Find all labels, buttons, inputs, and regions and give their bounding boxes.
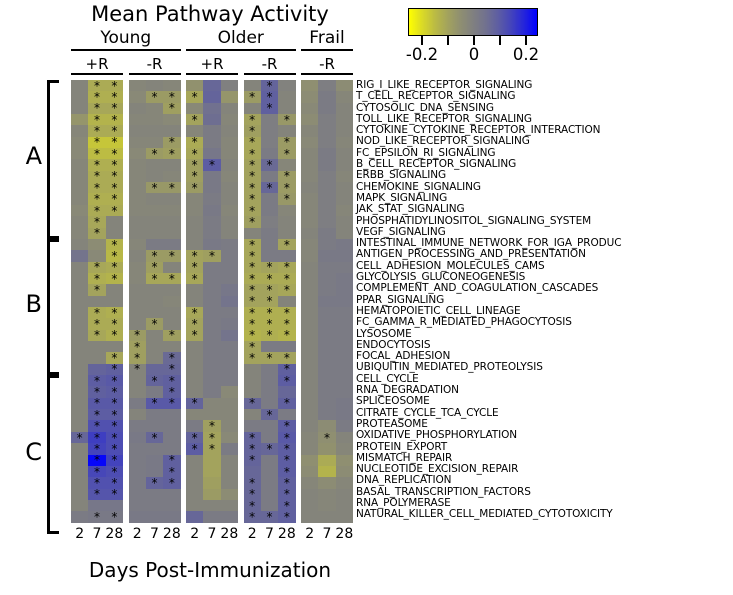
heatmap-cell[interactable] (261, 341, 278, 352)
heatmap-cell[interactable] (71, 307, 88, 318)
heatmap-cell[interactable]: * (186, 250, 203, 261)
heatmap-cell[interactable]: * (244, 250, 261, 261)
heatmap-cell[interactable] (129, 216, 146, 227)
heatmap-cell[interactable]: * (129, 341, 146, 352)
heatmap-cell[interactable] (261, 420, 278, 431)
heatmap-cell[interactable]: * (186, 148, 203, 159)
heatmap-cell[interactable]: * (88, 466, 105, 477)
heatmap-cell[interactable] (318, 398, 335, 409)
heatmap-cell[interactable] (336, 284, 353, 295)
heatmap-cell[interactable] (186, 205, 203, 216)
heatmap-cell[interactable] (301, 375, 318, 386)
heatmap-cell[interactable]: * (88, 489, 105, 500)
heatmap-cell[interactable] (318, 91, 335, 102)
heatmap-cell[interactable] (129, 193, 146, 204)
heatmap-cell[interactable] (336, 375, 353, 386)
heatmap-cell[interactable] (318, 103, 335, 114)
heatmap-cell[interactable]: * (261, 409, 278, 420)
heatmap-cell[interactable] (336, 137, 353, 148)
heatmap-cell[interactable] (106, 341, 123, 352)
heatmap-cell[interactable]: * (278, 432, 295, 443)
heatmap-cell[interactable] (221, 284, 238, 295)
heatmap-cell[interactable]: * (244, 193, 261, 204)
heatmap-cell[interactable]: * (278, 193, 295, 204)
heatmap-cell[interactable] (336, 159, 353, 170)
heatmap-cell[interactable]: * (186, 114, 203, 125)
heatmap-cell[interactable] (71, 80, 88, 91)
heatmap-cell[interactable] (146, 239, 163, 250)
heatmap-cell[interactable] (318, 466, 335, 477)
heatmap-cell[interactable]: * (244, 489, 261, 500)
heatmap-cell[interactable]: * (261, 262, 278, 273)
heatmap-cell[interactable] (336, 500, 353, 511)
heatmap-cell[interactable] (88, 296, 105, 307)
heatmap-cell[interactable] (318, 477, 335, 488)
heatmap-cell[interactable] (244, 80, 261, 91)
heatmap-cell[interactable] (203, 409, 220, 420)
heatmap-cell[interactable] (318, 443, 335, 454)
heatmap-cell[interactable] (336, 432, 353, 443)
heatmap-cell[interactable] (301, 80, 318, 91)
heatmap-cell[interactable] (301, 171, 318, 182)
heatmap-cell[interactable] (146, 137, 163, 148)
heatmap-cell[interactable]: * (146, 477, 163, 488)
heatmap-cell[interactable] (301, 432, 318, 443)
heatmap-cell[interactable] (186, 125, 203, 136)
heatmap-cell[interactable] (203, 137, 220, 148)
heatmap-cell[interactable] (146, 216, 163, 227)
heatmap-cell[interactable] (318, 489, 335, 500)
heatmap-cell[interactable]: * (278, 477, 295, 488)
heatmap-cell[interactable] (318, 228, 335, 239)
heatmap-cell[interactable] (129, 432, 146, 443)
heatmap-cell[interactable]: * (261, 352, 278, 363)
heatmap-cell[interactable] (221, 330, 238, 341)
heatmap-cell[interactable]: * (163, 250, 180, 261)
heatmap-cell[interactable] (318, 364, 335, 375)
heatmap-cell[interactable]: * (88, 409, 105, 420)
heatmap-cell[interactable]: * (129, 330, 146, 341)
heatmap-cell[interactable] (129, 307, 146, 318)
heatmap-cell[interactable]: * (106, 318, 123, 329)
heatmap-cell[interactable]: * (278, 443, 295, 454)
heatmap-cell[interactable]: * (163, 103, 180, 114)
heatmap-cell[interactable]: * (163, 375, 180, 386)
heatmap-cell[interactable] (244, 228, 261, 239)
heatmap-cell[interactable] (71, 398, 88, 409)
heatmap-cell[interactable] (186, 296, 203, 307)
heatmap-cell[interactable]: * (244, 443, 261, 454)
heatmap-cell[interactable]: * (278, 455, 295, 466)
heatmap-cell[interactable] (203, 455, 220, 466)
heatmap-cell[interactable]: * (186, 443, 203, 454)
heatmap-cell[interactable] (203, 80, 220, 91)
heatmap-cell[interactable] (301, 364, 318, 375)
heatmap-cell[interactable] (163, 511, 180, 522)
heatmap-cell[interactable] (318, 239, 335, 250)
heatmap-cell[interactable] (88, 364, 105, 375)
heatmap-cell[interactable] (129, 228, 146, 239)
heatmap-cell[interactable] (203, 114, 220, 125)
heatmap-cell[interactable] (301, 500, 318, 511)
heatmap-cell[interactable]: * (244, 137, 261, 148)
heatmap-cell[interactable]: * (88, 511, 105, 522)
heatmap-cell[interactable] (71, 341, 88, 352)
heatmap-cell[interactable] (261, 500, 278, 511)
heatmap-cell[interactable] (221, 114, 238, 125)
heatmap-cell[interactable] (221, 420, 238, 431)
heatmap-cell[interactable] (163, 114, 180, 125)
heatmap-cell[interactable] (163, 420, 180, 431)
heatmap-cell[interactable] (221, 125, 238, 136)
heatmap-cell[interactable]: * (244, 205, 261, 216)
heatmap-cell[interactable] (163, 205, 180, 216)
heatmap-cell[interactable] (221, 466, 238, 477)
heatmap-cell[interactable] (71, 216, 88, 227)
heatmap-cell[interactable] (336, 91, 353, 102)
heatmap-cell[interactable] (261, 364, 278, 375)
heatmap-cell[interactable]: * (186, 182, 203, 193)
heatmap-cell[interactable] (301, 148, 318, 159)
heatmap-cell[interactable]: * (244, 318, 261, 329)
heatmap-cell[interactable] (221, 171, 238, 182)
heatmap-cell[interactable] (203, 228, 220, 239)
heatmap-cell[interactable]: * (186, 432, 203, 443)
heatmap-cell[interactable] (146, 171, 163, 182)
heatmap-cell[interactable] (336, 239, 353, 250)
heatmap-cell[interactable] (336, 489, 353, 500)
heatmap-cell[interactable]: * (261, 443, 278, 454)
heatmap-cell[interactable]: * (278, 171, 295, 182)
heatmap-cell[interactable] (129, 114, 146, 125)
heatmap-cell[interactable] (129, 455, 146, 466)
heatmap-cell[interactable] (336, 193, 353, 204)
heatmap-cell[interactable]: * (88, 262, 105, 273)
heatmap-cell[interactable]: * (106, 489, 123, 500)
heatmap-cell[interactable] (336, 409, 353, 420)
heatmap-cell[interactable]: * (146, 148, 163, 159)
heatmap-cell[interactable] (221, 148, 238, 159)
heatmap-cell[interactable]: * (88, 159, 105, 170)
heatmap-cell[interactable]: * (244, 91, 261, 102)
heatmap-cell[interactable] (221, 364, 238, 375)
heatmap-cell[interactable] (336, 205, 353, 216)
heatmap-cell[interactable] (261, 216, 278, 227)
heatmap-cell[interactable]: * (261, 80, 278, 91)
heatmap-cell[interactable] (261, 137, 278, 148)
heatmap-cell[interactable] (318, 511, 335, 522)
heatmap-cell[interactable] (336, 341, 353, 352)
heatmap-cell[interactable] (336, 273, 353, 284)
heatmap-cell[interactable] (203, 103, 220, 114)
heatmap-cell[interactable]: * (88, 193, 105, 204)
heatmap-cell[interactable]: * (244, 477, 261, 488)
heatmap-cell[interactable]: * (278, 114, 295, 125)
heatmap-cell[interactable]: * (88, 273, 105, 284)
heatmap-cell[interactable] (203, 193, 220, 204)
heatmap-cell[interactable] (203, 364, 220, 375)
heatmap-cell[interactable] (163, 307, 180, 318)
heatmap-cell[interactable]: * (186, 262, 203, 273)
heatmap-cell[interactable]: * (261, 307, 278, 318)
heatmap-cell[interactable] (71, 103, 88, 114)
heatmap-cell[interactable] (336, 250, 353, 261)
heatmap-cell[interactable] (186, 477, 203, 488)
heatmap-cell[interactable] (244, 375, 261, 386)
heatmap-cell[interactable] (71, 228, 88, 239)
heatmap-cell[interactable]: * (88, 307, 105, 318)
heatmap-cell[interactable] (336, 80, 353, 91)
heatmap-cell[interactable] (301, 409, 318, 420)
heatmap-cell[interactable]: * (106, 443, 123, 454)
heatmap-cell[interactable]: * (106, 182, 123, 193)
heatmap-cell[interactable] (301, 443, 318, 454)
heatmap-cell[interactable] (71, 250, 88, 261)
heatmap-cell[interactable] (318, 193, 335, 204)
heatmap-cell[interactable]: * (88, 443, 105, 454)
heatmap-cell[interactable] (163, 443, 180, 454)
heatmap-cell[interactable] (301, 125, 318, 136)
heatmap-cell[interactable]: * (203, 420, 220, 431)
heatmap-cell[interactable] (203, 296, 220, 307)
heatmap-cell[interactable] (336, 364, 353, 375)
heatmap-cell[interactable] (318, 318, 335, 329)
heatmap-cell[interactable]: * (278, 375, 295, 386)
heatmap-cell[interactable] (186, 284, 203, 295)
heatmap-cell[interactable] (336, 125, 353, 136)
heatmap-cell[interactable]: * (88, 477, 105, 488)
heatmap-cell[interactable] (146, 352, 163, 363)
heatmap-cell[interactable]: * (203, 443, 220, 454)
heatmap-cell[interactable] (301, 250, 318, 261)
heatmap-cell[interactable] (221, 341, 238, 352)
heatmap-cell[interactable] (261, 250, 278, 261)
heatmap-cell[interactable] (278, 250, 295, 261)
heatmap-cell[interactable] (244, 386, 261, 397)
heatmap-cell[interactable] (129, 386, 146, 397)
heatmap-cell[interactable]: * (106, 375, 123, 386)
heatmap-cell[interactable] (203, 352, 220, 363)
heatmap-cell[interactable]: * (106, 307, 123, 318)
heatmap-cell[interactable] (301, 103, 318, 114)
heatmap-cell[interactable] (146, 330, 163, 341)
heatmap-cell[interactable] (186, 216, 203, 227)
heatmap-cell[interactable] (129, 500, 146, 511)
heatmap-cell[interactable] (71, 409, 88, 420)
heatmap-cell[interactable]: * (71, 432, 88, 443)
heatmap-cell[interactable]: * (106, 511, 123, 522)
heatmap-cell[interactable] (203, 318, 220, 329)
heatmap-cell[interactable] (146, 364, 163, 375)
heatmap-cell[interactable]: * (203, 432, 220, 443)
heatmap-cell[interactable] (318, 330, 335, 341)
heatmap-cell[interactable] (163, 341, 180, 352)
heatmap-cell[interactable] (203, 273, 220, 284)
heatmap-cell[interactable] (318, 159, 335, 170)
heatmap-cell[interactable] (221, 250, 238, 261)
heatmap-cell[interactable]: * (146, 375, 163, 386)
heatmap-cell[interactable] (278, 409, 295, 420)
heatmap-cell[interactable]: * (186, 159, 203, 170)
heatmap-cell[interactable]: * (88, 125, 105, 136)
heatmap-cell[interactable] (278, 159, 295, 170)
heatmap-cell[interactable]: * (106, 364, 123, 375)
heatmap-cell[interactable] (336, 148, 353, 159)
heatmap-cell[interactable] (146, 103, 163, 114)
heatmap-cell[interactable] (186, 193, 203, 204)
heatmap-cell[interactable] (261, 148, 278, 159)
heatmap-cell[interactable]: * (244, 500, 261, 511)
heatmap-cell[interactable] (129, 477, 146, 488)
heatmap-cell[interactable]: * (146, 182, 163, 193)
heatmap-cell[interactable] (129, 182, 146, 193)
heatmap-cell[interactable]: * (278, 398, 295, 409)
heatmap-cell[interactable]: * (163, 91, 180, 102)
heatmap-cell[interactable] (106, 228, 123, 239)
heatmap-cell[interactable] (221, 477, 238, 488)
heatmap-cell[interactable] (261, 466, 278, 477)
heatmap-cell[interactable]: * (261, 318, 278, 329)
heatmap-cell[interactable] (186, 239, 203, 250)
heatmap-cell[interactable] (301, 205, 318, 216)
heatmap-cell[interactable] (203, 489, 220, 500)
heatmap-cell[interactable] (129, 489, 146, 500)
heatmap-cell[interactable] (71, 262, 88, 273)
heatmap-cell[interactable]: * (106, 386, 123, 397)
heatmap-cell[interactable] (318, 273, 335, 284)
heatmap-cell[interactable] (221, 205, 238, 216)
heatmap-cell[interactable]: * (278, 489, 295, 500)
heatmap-cell[interactable] (186, 103, 203, 114)
heatmap-cell[interactable]: * (278, 148, 295, 159)
heatmap-cell[interactable] (221, 511, 238, 522)
heatmap-cell[interactable] (71, 330, 88, 341)
heatmap-cell[interactable] (336, 420, 353, 431)
heatmap-cell[interactable]: * (278, 420, 295, 431)
heatmap-cell[interactable]: * (146, 250, 163, 261)
heatmap-cell[interactable] (186, 228, 203, 239)
heatmap-cell[interactable] (278, 216, 295, 227)
heatmap-cell[interactable] (146, 511, 163, 522)
heatmap-cell[interactable] (129, 171, 146, 182)
heatmap-cell[interactable] (221, 273, 238, 284)
heatmap-cell[interactable] (221, 159, 238, 170)
heatmap-cell[interactable]: * (163, 148, 180, 159)
heatmap-cell[interactable]: * (88, 91, 105, 102)
heatmap-cell[interactable] (71, 91, 88, 102)
heatmap-cell[interactable] (336, 228, 353, 239)
heatmap-cell[interactable]: * (186, 137, 203, 148)
heatmap-cell[interactable]: * (244, 262, 261, 273)
heatmap-cell[interactable] (129, 239, 146, 250)
heatmap-cell[interactable] (203, 500, 220, 511)
heatmap-cell[interactable]: * (261, 330, 278, 341)
heatmap-cell[interactable] (146, 443, 163, 454)
heatmap-cell[interactable] (301, 489, 318, 500)
heatmap-cell[interactable] (146, 205, 163, 216)
heatmap-cell[interactable] (336, 103, 353, 114)
heatmap-cell[interactable] (163, 171, 180, 182)
heatmap-cell[interactable] (146, 228, 163, 239)
heatmap-cell[interactable] (71, 420, 88, 431)
heatmap-cell[interactable] (336, 455, 353, 466)
heatmap-cell[interactable] (186, 489, 203, 500)
heatmap-cell[interactable]: * (88, 398, 105, 409)
heatmap-cell[interactable] (203, 341, 220, 352)
heatmap-cell[interactable]: * (163, 273, 180, 284)
heatmap-cell[interactable] (301, 114, 318, 125)
heatmap-cell[interactable] (146, 466, 163, 477)
heatmap-cell[interactable] (336, 171, 353, 182)
heatmap-cell[interactable] (146, 193, 163, 204)
heatmap-cell[interactable] (301, 511, 318, 522)
heatmap-cell[interactable]: * (278, 182, 295, 193)
heatmap-cell[interactable]: * (129, 364, 146, 375)
heatmap-cell[interactable] (186, 375, 203, 386)
heatmap-cell[interactable] (71, 284, 88, 295)
heatmap-cell[interactable] (106, 216, 123, 227)
heatmap-cell[interactable] (336, 398, 353, 409)
heatmap-cell[interactable] (203, 284, 220, 295)
heatmap-cell[interactable]: * (88, 103, 105, 114)
heatmap-cell[interactable]: * (261, 273, 278, 284)
heatmap-cell[interactable] (129, 466, 146, 477)
heatmap-cell[interactable] (221, 409, 238, 420)
heatmap-cell[interactable] (146, 284, 163, 295)
heatmap-cell[interactable] (318, 500, 335, 511)
heatmap-cell[interactable]: * (244, 148, 261, 159)
heatmap-cell[interactable] (301, 228, 318, 239)
heatmap-cell[interactable] (71, 455, 88, 466)
heatmap-cell[interactable] (163, 216, 180, 227)
heatmap-cell[interactable] (301, 137, 318, 148)
heatmap-cell[interactable] (244, 103, 261, 114)
heatmap-cell[interactable] (244, 409, 261, 420)
heatmap-cell[interactable] (71, 125, 88, 136)
heatmap-cell[interactable] (336, 307, 353, 318)
heatmap-cell[interactable] (186, 386, 203, 397)
heatmap-cell[interactable]: * (278, 511, 295, 522)
heatmap-cell[interactable] (203, 511, 220, 522)
heatmap-cell[interactable]: * (106, 91, 123, 102)
heatmap-cell[interactable] (221, 455, 238, 466)
heatmap-cell[interactable] (88, 352, 105, 363)
heatmap-cell[interactable] (301, 477, 318, 488)
heatmap-cell[interactable] (301, 193, 318, 204)
heatmap-cell[interactable]: * (163, 137, 180, 148)
heatmap-cell[interactable] (221, 137, 238, 148)
heatmap-cell[interactable] (318, 420, 335, 431)
heatmap-cell[interactable] (71, 193, 88, 204)
heatmap-cell[interactable] (146, 420, 163, 431)
heatmap-cell[interactable]: * (186, 330, 203, 341)
heatmap-cell[interactable] (71, 205, 88, 216)
heatmap-cell[interactable] (221, 318, 238, 329)
heatmap-cell[interactable]: * (88, 318, 105, 329)
heatmap-cell[interactable]: * (106, 398, 123, 409)
heatmap-cell[interactable]: * (261, 284, 278, 295)
heatmap-cell[interactable] (318, 386, 335, 397)
heatmap-cell[interactable] (129, 137, 146, 148)
heatmap-cell[interactable]: * (244, 114, 261, 125)
heatmap-cell[interactable]: * (106, 466, 123, 477)
heatmap-cell[interactable] (221, 443, 238, 454)
heatmap-cell[interactable] (301, 455, 318, 466)
heatmap-cell[interactable]: * (278, 352, 295, 363)
heatmap-cell[interactable] (318, 341, 335, 352)
heatmap-cell[interactable]: * (244, 284, 261, 295)
heatmap-cell[interactable] (221, 182, 238, 193)
